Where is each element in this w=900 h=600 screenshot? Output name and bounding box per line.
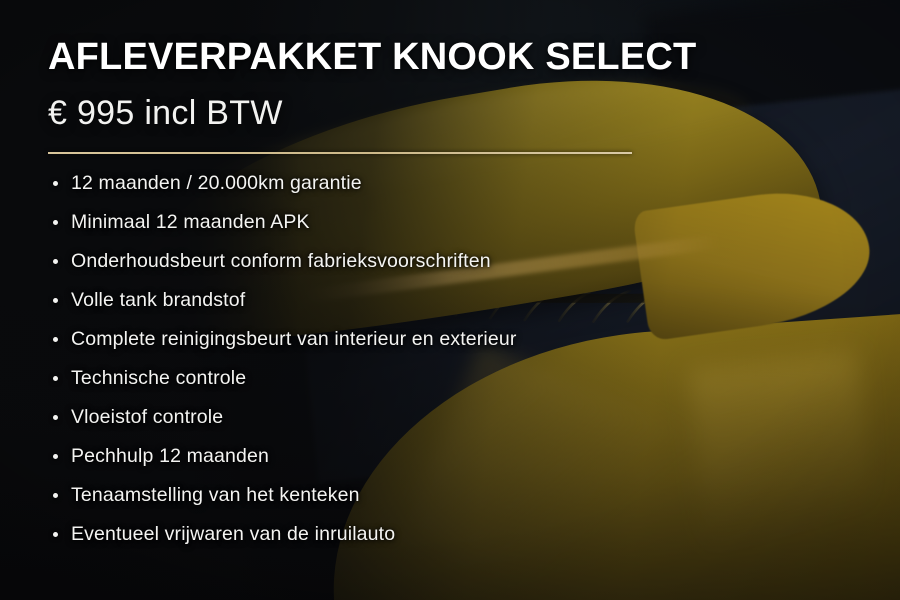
feature-list: 12 maanden / 20.000km garantie Minimaal … (48, 163, 517, 553)
list-item-label: Tenaamstelling van het kenteken (71, 483, 360, 507)
bullet-icon (53, 220, 58, 225)
list-item-label: Minimaal 12 maanden APK (71, 210, 310, 234)
list-item-label: Vloeistof controle (71, 405, 223, 429)
page-title: AFLEVERPAKKET KNOOK SELECT (48, 35, 696, 79)
bullet-icon (53, 493, 58, 498)
list-item-label: Complete reinigingsbeurt van interieur e… (71, 327, 517, 351)
divider-rule (48, 152, 632, 154)
price-label: € 995 incl BTW (48, 92, 283, 134)
list-item: Complete reinigingsbeurt van interieur e… (48, 319, 517, 358)
list-item-label: Technische controle (71, 366, 246, 390)
list-item-label: Pechhulp 12 maanden (71, 444, 269, 468)
list-item-label: Eventueel vrijwaren van de inruilauto (71, 522, 395, 546)
list-item: Pechhulp 12 maanden (48, 436, 517, 475)
promo-content: AFLEVERPAKKET KNOOK SELECT € 995 incl BT… (0, 0, 900, 600)
list-item: Tenaamstelling van het kenteken (48, 475, 517, 514)
list-item: Vloeistof controle (48, 397, 517, 436)
list-item-label: Volle tank brandstof (71, 288, 245, 312)
bullet-icon (53, 454, 58, 459)
delivery-package-promo-card: AFLEVERPAKKET KNOOK SELECT € 995 incl BT… (0, 0, 900, 600)
bullet-icon (53, 376, 58, 381)
bullet-icon (53, 415, 58, 420)
bullet-icon (53, 532, 58, 537)
bullet-icon (53, 259, 58, 264)
list-item: Minimaal 12 maanden APK (48, 202, 517, 241)
list-item: 12 maanden / 20.000km garantie (48, 163, 517, 202)
list-item-label: 12 maanden / 20.000km garantie (71, 171, 362, 195)
list-item: Volle tank brandstof (48, 280, 517, 319)
list-item: Eventueel vrijwaren van de inruilauto (48, 514, 517, 553)
bullet-icon (53, 337, 58, 342)
bullet-icon (53, 298, 58, 303)
list-item: Onderhoudsbeurt conform fabrieksvoorschr… (48, 241, 517, 280)
bullet-icon (53, 181, 58, 186)
list-item: Technische controle (48, 358, 517, 397)
list-item-label: Onderhoudsbeurt conform fabrieksvoorschr… (71, 249, 491, 273)
